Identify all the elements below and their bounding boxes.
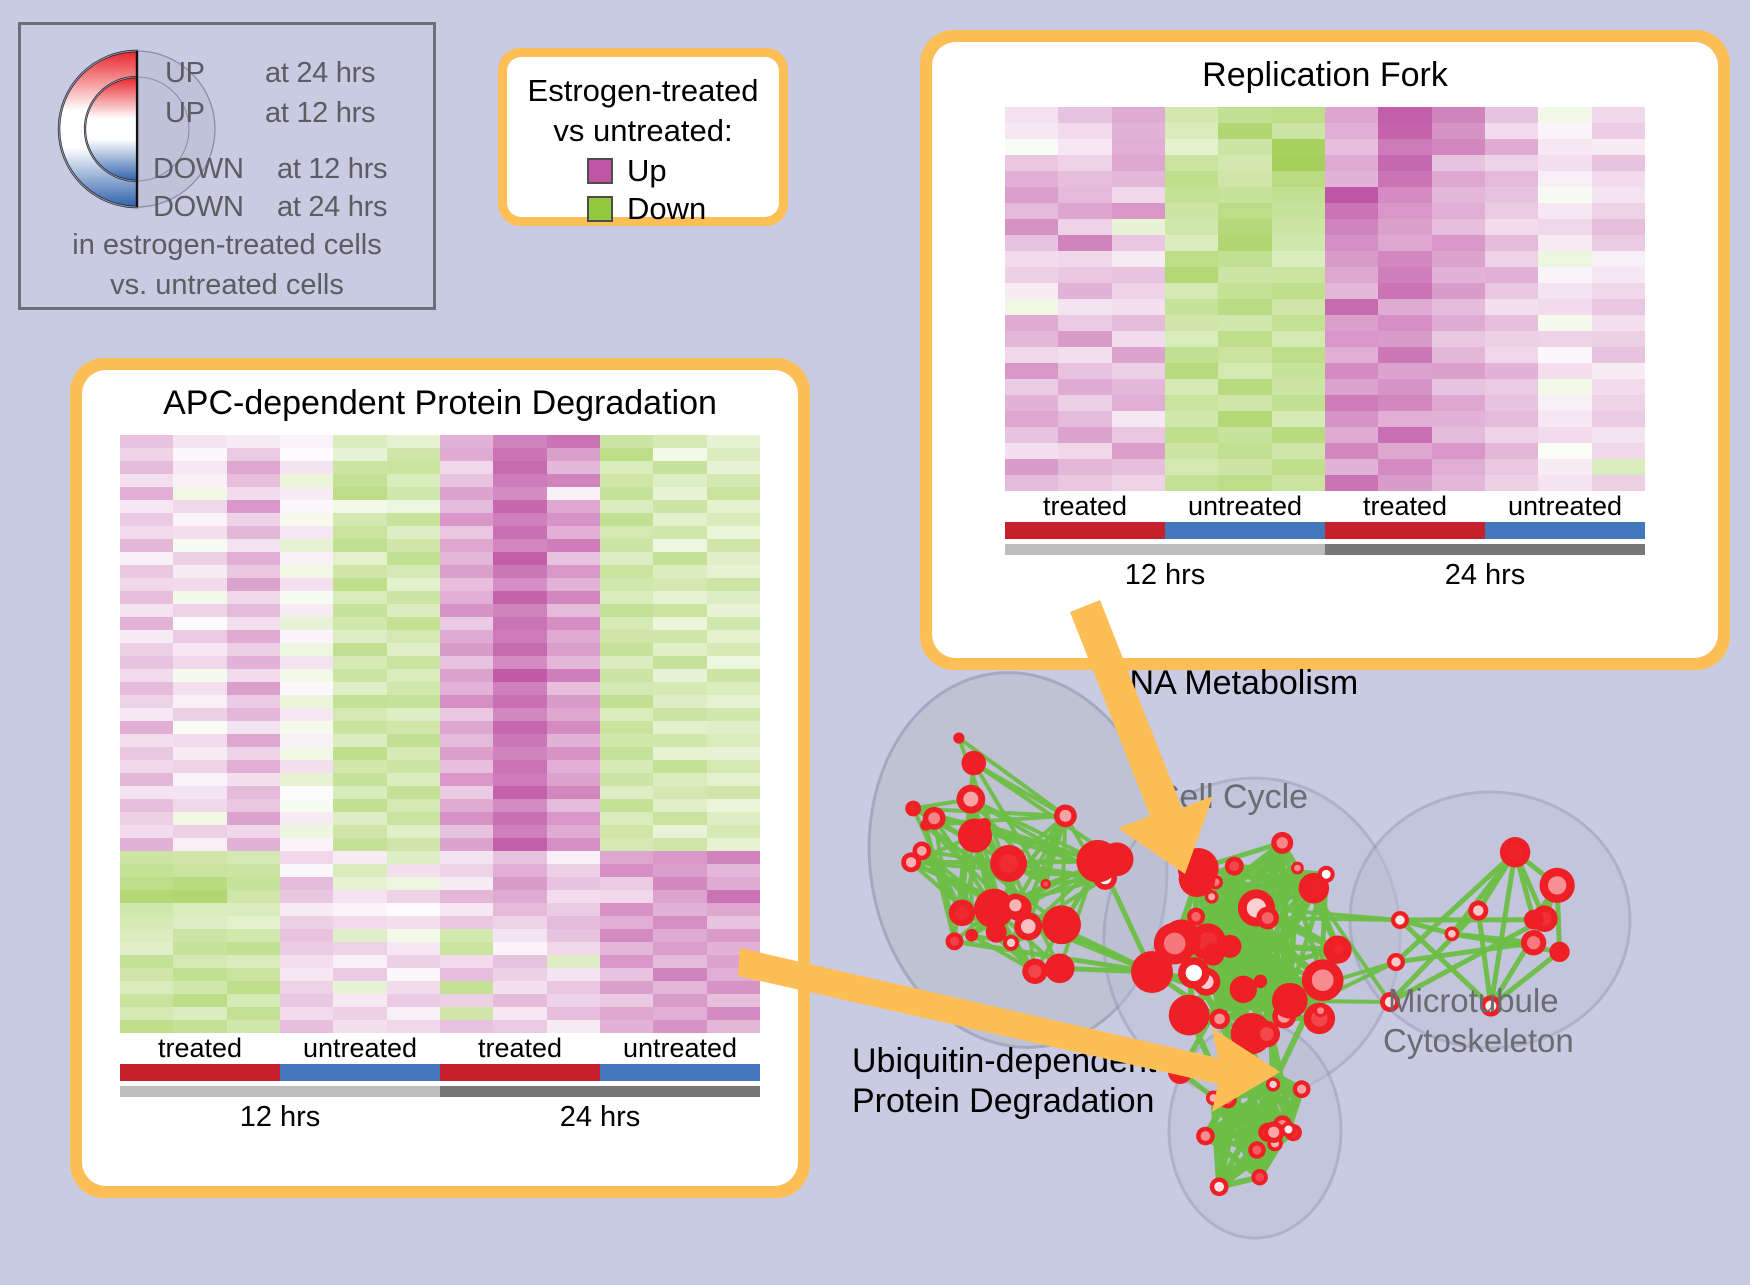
heatmap-cell <box>1485 139 1538 155</box>
heatmap-cell <box>1538 427 1591 443</box>
heatmap-cell <box>600 539 653 552</box>
network-node-core <box>1317 1007 1324 1014</box>
heatmap-cell <box>387 604 440 617</box>
group-label-row: treateduntreatedtreateduntreated <box>1005 491 1645 522</box>
heatmap-cell <box>1432 299 1485 315</box>
heatmap-cell <box>333 812 386 825</box>
network-node[interactable] <box>1218 935 1241 958</box>
heatmap-cell <box>440 617 493 630</box>
heatmap-cell <box>547 903 600 916</box>
heatmap-cell <box>173 591 226 604</box>
heatmap-cell <box>1218 411 1271 427</box>
heatmap-cell <box>1272 395 1325 411</box>
heatmap-cell <box>1112 459 1165 475</box>
network-node[interactable] <box>1169 995 1210 1036</box>
heatmap-cell <box>707 643 760 656</box>
heatmap-cell <box>173 695 226 708</box>
heatmap-cell <box>387 955 440 968</box>
heatmap-cell <box>1005 283 1058 299</box>
heatmap-cell <box>1378 267 1431 283</box>
heatmap-cell <box>440 877 493 890</box>
heatmap-cell <box>440 968 493 981</box>
heatmap-cell <box>1325 155 1378 171</box>
heatmap-cell <box>173 994 226 1007</box>
heatmap-cell <box>1058 107 1111 123</box>
heatmap-cell <box>707 539 760 552</box>
network-node[interactable] <box>1042 905 1081 944</box>
heatmap-cell <box>1272 347 1325 363</box>
heatmap-cell <box>1538 379 1591 395</box>
heatmap-cell <box>440 1020 493 1033</box>
heatmap-cell <box>1218 251 1271 267</box>
heatmap-cell <box>1058 475 1111 491</box>
heatmap-cell <box>120 799 173 812</box>
network-node-core <box>1322 870 1331 879</box>
heatmap-cell <box>227 1020 280 1033</box>
heatmap-cell <box>227 591 280 604</box>
heatmap-cell <box>120 747 173 760</box>
network-node[interactable] <box>1230 976 1257 1003</box>
heatmap-cell <box>1218 283 1271 299</box>
heatmap-cell <box>227 760 280 773</box>
heatmap-cell <box>547 929 600 942</box>
network-node-core <box>1164 933 1186 955</box>
heatmap-cell <box>387 890 440 903</box>
heatmap-cell <box>707 799 760 812</box>
heatmap-cell <box>333 695 386 708</box>
heatmap-cell <box>600 825 653 838</box>
heatmap-cell <box>387 799 440 812</box>
heatmap-cell <box>1592 395 1645 411</box>
heatmap-cell <box>707 617 760 630</box>
heatmap-cell <box>1378 363 1431 379</box>
network-node[interactable] <box>1131 951 1173 993</box>
heatmap-cell <box>1005 267 1058 283</box>
network-node-core <box>1473 905 1483 915</box>
heatmap-cell <box>707 669 760 682</box>
heatmap-cell <box>600 487 653 500</box>
heatmap-cell <box>653 500 706 513</box>
heatmap-cell <box>280 734 333 747</box>
heatmap-cell <box>547 695 600 708</box>
network-node[interactable] <box>1524 910 1544 930</box>
heatmap-cell <box>120 994 173 1007</box>
cluster-label: Ubiquitin-dependent <box>852 1042 1157 1080</box>
heatmap-cell <box>1432 475 1485 491</box>
heatmap-cell <box>1325 475 1378 491</box>
treatment-color-bar <box>120 1064 760 1081</box>
heatmap-cell <box>600 851 653 864</box>
heatmap-cell <box>120 838 173 851</box>
heatmap-cell <box>333 539 386 552</box>
heatmap-cell <box>1112 475 1165 491</box>
heatmap-cell <box>493 903 546 916</box>
heatmap-cell <box>547 1007 600 1020</box>
heatmap-cell <box>1432 427 1485 443</box>
heatmap-cell <box>1165 203 1218 219</box>
network-node-core <box>1391 957 1400 966</box>
heatmap-cell <box>1005 235 1058 251</box>
heatmap-cell <box>1112 379 1165 395</box>
heatmap-cell <box>1005 155 1058 171</box>
heatmap-cell <box>1112 203 1165 219</box>
heatmap-cell <box>120 864 173 877</box>
network-node-core <box>1334 945 1343 954</box>
heatmap-cell <box>707 890 760 903</box>
heatmap-cell <box>1112 235 1165 251</box>
heatmap-cell <box>280 903 333 916</box>
heatmap-cell <box>280 695 333 708</box>
heatmap-cell <box>1538 251 1591 267</box>
heatmap-cell <box>120 565 173 578</box>
network-node[interactable] <box>961 751 986 776</box>
heatmap-cell <box>173 799 226 812</box>
heatmap-cell <box>493 773 546 786</box>
network-node-core <box>1268 1127 1279 1138</box>
heatmap-cell <box>1432 171 1485 187</box>
heatmap-cell <box>653 851 706 864</box>
heatmap-cell <box>387 903 440 916</box>
heatmap-cell <box>547 630 600 643</box>
heatmap-cell <box>333 747 386 760</box>
heatmap-cell <box>600 890 653 903</box>
heatmap-cell <box>600 942 653 955</box>
network-node[interactable] <box>953 732 964 743</box>
heatmap-cell <box>1325 427 1378 443</box>
heatmap-cell <box>227 955 280 968</box>
heatmap-cell <box>1058 443 1111 459</box>
heatmap-cell <box>227 968 280 981</box>
treatment-color-bar-segment <box>1165 522 1325 539</box>
heatmap-cell <box>600 734 653 747</box>
heatmap-cell <box>440 448 493 461</box>
heatmap-cell <box>280 539 333 552</box>
heatmap-cell <box>1058 427 1111 443</box>
heatmap-cell <box>1592 203 1645 219</box>
network-node[interactable] <box>1076 840 1119 883</box>
heatmap-cell <box>707 682 760 695</box>
heatmap-cell <box>227 695 280 708</box>
heatmap-cell <box>1165 267 1218 283</box>
heatmap-cell <box>1378 475 1431 491</box>
heatmap-cell <box>653 734 706 747</box>
heatmap-cell <box>120 435 173 448</box>
heatmap-cell <box>1485 123 1538 139</box>
heatmap-cell <box>440 695 493 708</box>
heatmap-cell <box>493 695 546 708</box>
heatmap-cell <box>280 955 333 968</box>
heatmap-cell <box>440 682 493 695</box>
heatmap-cell <box>1165 219 1218 235</box>
heatmap-cell <box>1272 235 1325 251</box>
heatmap-cell <box>1325 171 1378 187</box>
heatmap-cell <box>280 448 333 461</box>
timepoint-label: 12 hrs <box>120 1101 440 1134</box>
heatmap-cell <box>333 682 386 695</box>
heatmap-cell <box>600 773 653 786</box>
heatmap-cell <box>707 916 760 929</box>
heatmap-cell <box>227 630 280 643</box>
heatmap-cell <box>120 461 173 474</box>
heatmap-cell <box>280 747 333 760</box>
heatmap-cell <box>1485 219 1538 235</box>
heatmap-cell <box>1218 315 1271 331</box>
heatmap-cell <box>600 474 653 487</box>
heatmap-cell <box>387 474 440 487</box>
treatment-color-bar-segment <box>440 1064 600 1081</box>
heatmap-cell <box>1592 235 1645 251</box>
heatmap-cell <box>1005 475 1058 491</box>
heatmap-cell <box>493 539 546 552</box>
heatmap-cell <box>1165 395 1218 411</box>
heatmap-cell <box>120 877 173 890</box>
heatmap-cell <box>387 435 440 448</box>
heatmap-cell <box>280 643 333 656</box>
heatmap-cell <box>1592 331 1645 347</box>
heatmap-cell <box>1058 411 1111 427</box>
heatmap-cell <box>547 760 600 773</box>
treatment-color-bar-segment <box>120 1064 280 1081</box>
heatmap-cell <box>547 604 600 617</box>
heatmap-cell <box>1485 395 1538 411</box>
heatmap-cell <box>173 539 226 552</box>
heatmap-cell <box>707 695 760 708</box>
network-node[interactable] <box>1045 953 1075 983</box>
heatmap-cell <box>333 448 386 461</box>
network-node[interactable] <box>986 922 1007 943</box>
heatmap-cell <box>707 1007 760 1020</box>
cluster-label: Cytoskeleton <box>1383 1022 1574 1059</box>
heatmap-cell <box>173 604 226 617</box>
heatmap-cell <box>280 773 333 786</box>
network-node[interactable] <box>1168 1060 1192 1084</box>
heatmap-cell <box>227 799 280 812</box>
heatmap-cell <box>227 851 280 864</box>
heatmap-cell <box>600 812 653 825</box>
network-node[interactable] <box>965 929 978 942</box>
heatmap-cell <box>1218 299 1271 315</box>
heatmap-cell <box>707 500 760 513</box>
heatmap-cell <box>1325 187 1378 203</box>
heatmap-cell <box>173 760 226 773</box>
heatmap-cell <box>173 682 226 695</box>
heatmap-cell <box>1112 315 1165 331</box>
network-node-core <box>1252 1145 1261 1154</box>
heatmap-cell <box>333 708 386 721</box>
group-label: untreated <box>280 1033 440 1064</box>
heatmap-cell <box>493 474 546 487</box>
heatmap-cell <box>227 604 280 617</box>
heatmap-cell <box>493 435 546 448</box>
group-label: treated <box>440 1033 600 1064</box>
heatmap-cell <box>333 968 386 981</box>
heatmap-cell <box>440 955 493 968</box>
heatmap-cell <box>547 552 600 565</box>
axis-apc-degradation: treateduntreatedtreateduntreated12 hrs24… <box>120 1033 760 1134</box>
network-node[interactable] <box>1549 942 1569 962</box>
heatmap-cell <box>1112 363 1165 379</box>
heatmap-cell <box>547 877 600 890</box>
heatmap-cell <box>547 721 600 734</box>
heatmap-cell <box>440 526 493 539</box>
panel-title-apc: APC-dependent Protein Degradation <box>163 384 717 423</box>
network-node-core <box>1223 1095 1232 1104</box>
heatmap-cell <box>493 565 546 578</box>
group-label: untreated <box>1165 491 1325 522</box>
heatmap-cell <box>1485 235 1538 251</box>
group-label: treated <box>1325 491 1485 522</box>
heatmap-cell <box>547 435 600 448</box>
heatmap-cell <box>1005 315 1058 331</box>
heatmap-cell <box>1058 315 1111 331</box>
heatmap-cell <box>653 448 706 461</box>
heatmap-cell <box>1058 139 1111 155</box>
heatmap-cell <box>440 773 493 786</box>
heatmap-cell <box>1538 299 1591 315</box>
heatmap-cell <box>387 526 440 539</box>
heatmap-cell <box>1592 427 1645 443</box>
heatmap-cell <box>493 578 546 591</box>
heatmap-cell <box>173 474 226 487</box>
heatmap-cell <box>333 643 386 656</box>
heatmap-cell <box>173 513 226 526</box>
heatmap-cell <box>440 864 493 877</box>
heatmap-cell <box>1432 251 1485 267</box>
down-label: Down <box>627 191 706 227</box>
heatmap-cell <box>547 968 600 981</box>
heatmap-cell <box>440 1007 493 1020</box>
heatmap-cell <box>1272 139 1325 155</box>
network-node[interactable] <box>1179 860 1216 897</box>
heatmap-cell <box>1112 187 1165 203</box>
heatmap-cell <box>707 994 760 1007</box>
network-node-core <box>1201 1131 1211 1141</box>
heatmap-cell <box>707 552 760 565</box>
heatmap-cell <box>707 903 760 916</box>
network-node-core <box>1285 1125 1293 1133</box>
heatmap-cell <box>120 552 173 565</box>
heatmap-cell <box>653 1007 706 1020</box>
heatmap-cell <box>1165 427 1218 443</box>
heatmap-cell <box>173 942 226 955</box>
heatmap-cell <box>387 656 440 669</box>
heatmap-cell <box>120 656 173 669</box>
heatmap-cell <box>333 890 386 903</box>
heatmap-cell <box>1325 251 1378 267</box>
heatmap-cell <box>1432 187 1485 203</box>
network-node-core <box>1276 837 1287 848</box>
heatmap-cell <box>440 461 493 474</box>
group-label: treated <box>120 1033 280 1064</box>
heatmap-cell <box>120 786 173 799</box>
heatmap-cell <box>227 552 280 565</box>
heatmap-cell <box>493 1020 546 1033</box>
heatmap-cell <box>600 799 653 812</box>
heatmap-cell <box>547 591 600 604</box>
heatmap-cell <box>1325 219 1378 235</box>
heatmap-cell <box>440 929 493 942</box>
heatmap-cell <box>493 929 546 942</box>
heatmap-cell <box>547 656 600 669</box>
heatmap-cell <box>1538 411 1591 427</box>
heatmap-cell <box>440 539 493 552</box>
heatmap-cell <box>600 617 653 630</box>
up-label: Up <box>627 153 667 189</box>
heatmap-cell <box>493 877 546 890</box>
legend-footer: in estrogen-treated cells vs. untreated … <box>21 225 433 305</box>
heatmap-cell <box>120 968 173 981</box>
timepoint-color-bar-segment <box>1325 544 1645 555</box>
heatmap-cell <box>1058 235 1111 251</box>
heatmap-cell <box>653 591 706 604</box>
heatmap-cell <box>1485 459 1538 475</box>
heatmap-cell <box>1058 395 1111 411</box>
heatmap-cell <box>1592 251 1645 267</box>
heatmap-cell <box>1218 395 1271 411</box>
heatmap-cell <box>707 656 760 669</box>
heatmap-cell <box>1485 379 1538 395</box>
heatmap-cell <box>1005 347 1058 363</box>
heatmap-cell <box>120 526 173 539</box>
heatmap-cell <box>227 682 280 695</box>
heatmap-cell <box>653 877 706 890</box>
heatmap-cell <box>1005 251 1058 267</box>
heatmap-cell <box>1325 315 1378 331</box>
heatmap-cell <box>1112 123 1165 139</box>
heatmap-cell <box>333 734 386 747</box>
network-node[interactable] <box>1276 989 1299 1012</box>
heatmap-cell <box>387 552 440 565</box>
heatmap-cell <box>600 1020 653 1033</box>
cluster-label: DNA Metabolism <box>1105 664 1358 702</box>
heatmap-cell <box>1485 475 1538 491</box>
heatmap-cell <box>333 721 386 734</box>
heatmap-cell <box>1272 267 1325 283</box>
heatmap-cell <box>173 708 226 721</box>
heatmap-cell <box>1378 347 1431 363</box>
heatmap-cell <box>1165 347 1218 363</box>
heatmap-cell <box>280 708 333 721</box>
heatmap-cell <box>493 734 546 747</box>
heatmap-cell <box>1592 459 1645 475</box>
heatmap-cell <box>1005 187 1058 203</box>
heatmap-cell <box>120 903 173 916</box>
heatmap-cell <box>227 877 280 890</box>
heatmap-cell <box>440 552 493 565</box>
legend-time-3: at 24 hrs <box>277 191 387 224</box>
heatmap-apc-degradation <box>120 435 760 1033</box>
heatmap-cell <box>1592 299 1645 315</box>
heatmap-cell <box>1325 107 1378 123</box>
heatmap-cell <box>1378 379 1431 395</box>
timepoint-label-row: 12 hrs24 hrs <box>1005 559 1645 592</box>
heatmap-cell <box>1218 379 1271 395</box>
network-node-core <box>1527 936 1540 949</box>
network-node[interactable] <box>1254 975 1267 988</box>
heatmap-cell <box>1165 187 1218 203</box>
heatmap-cell <box>1112 139 1165 155</box>
network-node[interactable] <box>978 818 991 831</box>
heatmap-cell <box>1538 203 1591 219</box>
network-node-core <box>1214 1014 1225 1025</box>
updown-title-line1: Estrogen-treated <box>523 71 763 111</box>
heatmap-cell <box>387 747 440 760</box>
heatmap-cell <box>493 630 546 643</box>
heatmap-cell <box>547 773 600 786</box>
heatmap-cell <box>600 565 653 578</box>
heatmap-cell <box>387 565 440 578</box>
heatmap-cell <box>1592 315 1645 331</box>
